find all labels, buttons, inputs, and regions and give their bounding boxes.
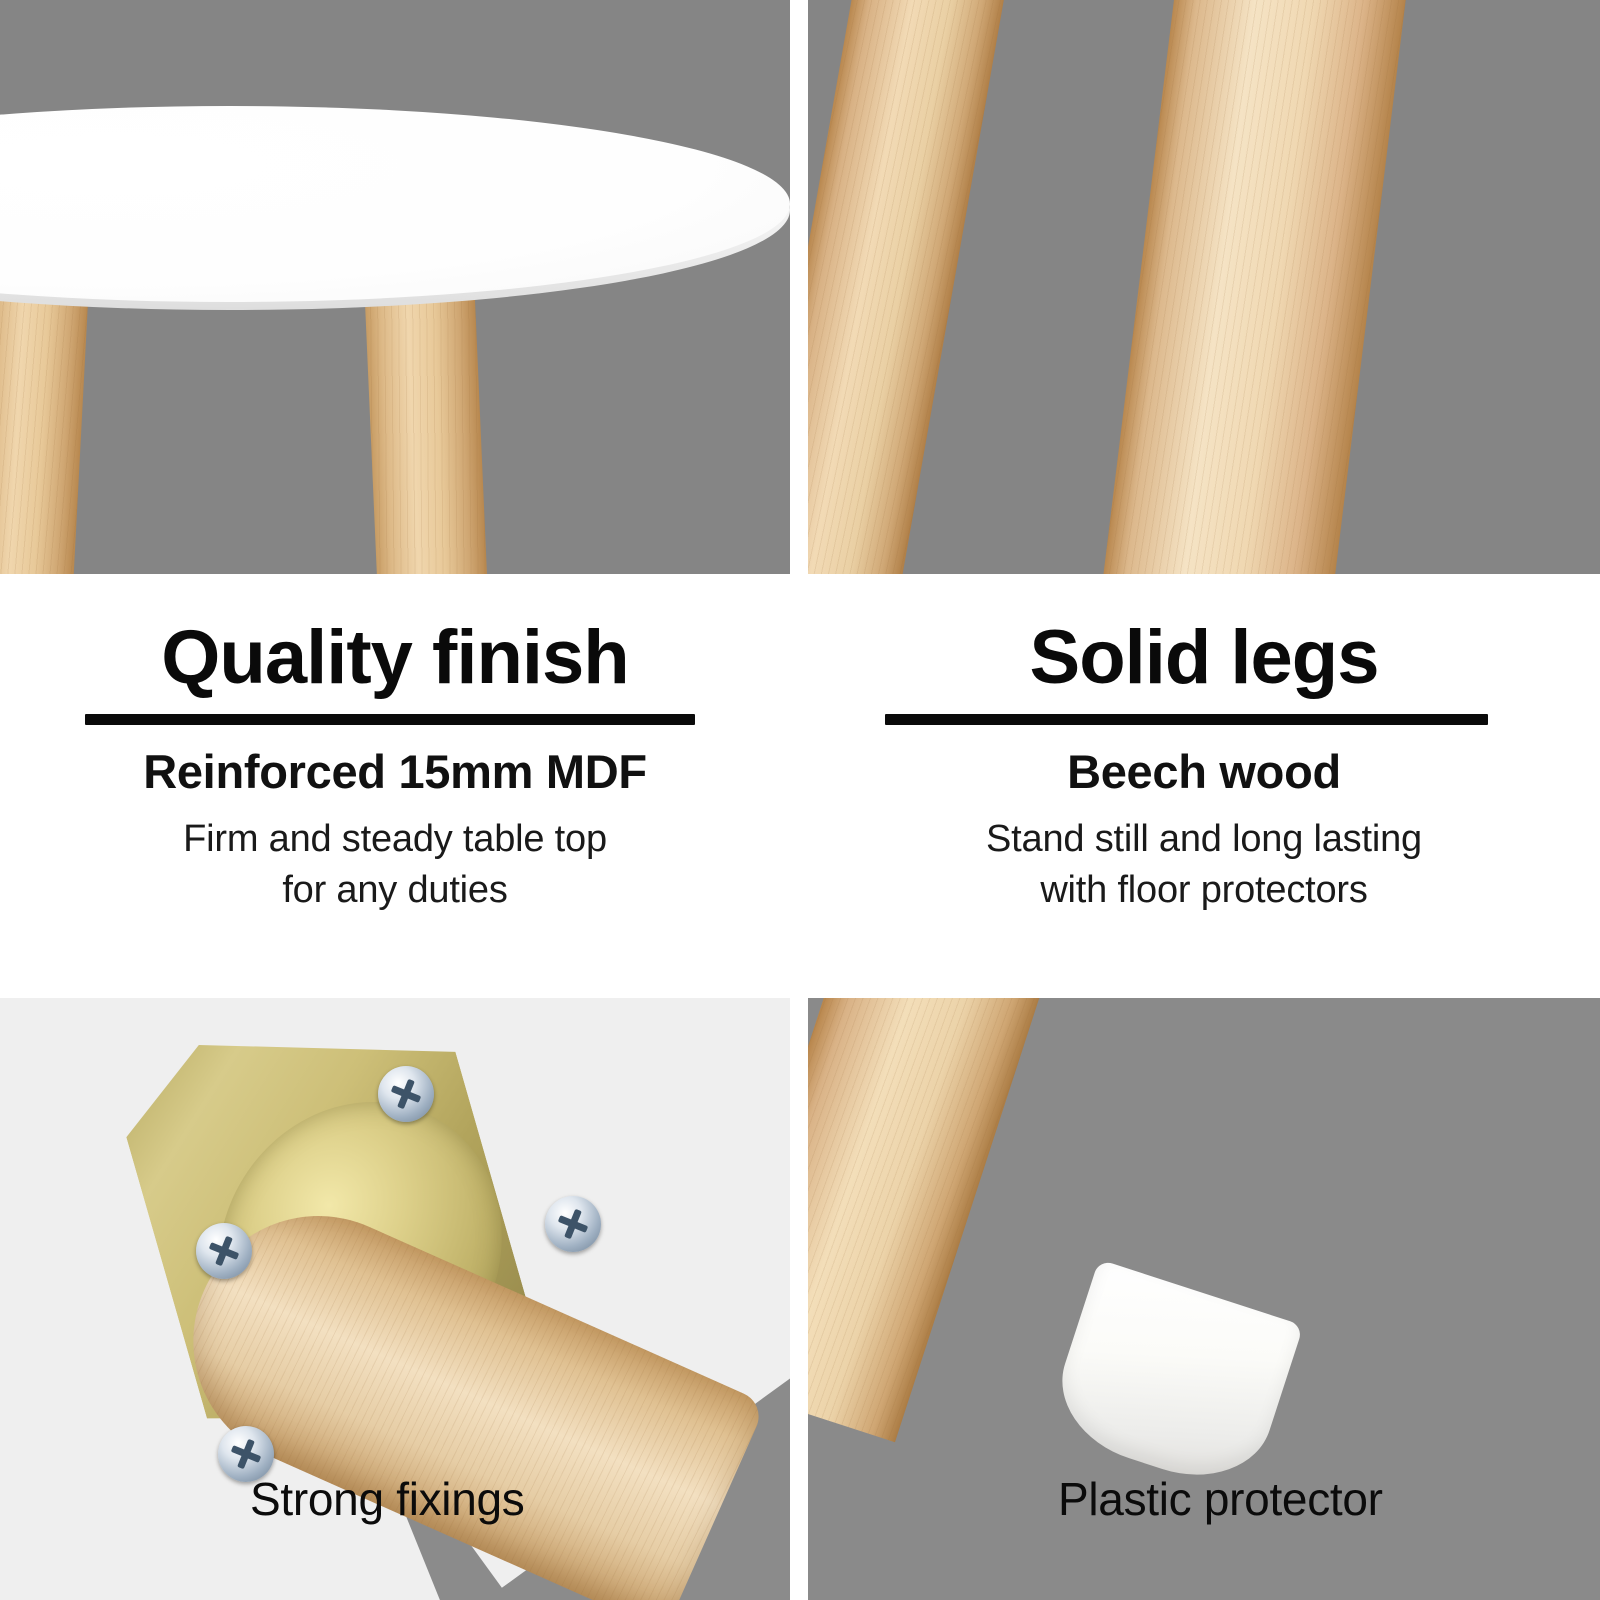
feature-headline: Solid legs bbox=[808, 620, 1600, 696]
feature-body-line-1: Firm and steady table top bbox=[0, 814, 790, 865]
phillips-screw-icon bbox=[378, 1066, 434, 1122]
photo-solid-legs bbox=[808, 0, 1600, 574]
wood-grain-texture bbox=[808, 0, 1008, 574]
beech-leg-a bbox=[808, 0, 1008, 574]
caption-strong-fixings: Strong fixings bbox=[250, 1472, 525, 1526]
beech-leg-end bbox=[808, 998, 1068, 1442]
feature-divider-rule bbox=[85, 714, 695, 725]
feature-body-line-2: for any duties bbox=[0, 865, 790, 916]
feature-text-solid-legs: Solid legs Beech wood Stand still and lo… bbox=[808, 574, 1600, 998]
infographic-board: Quality finish Reinforced 15mm MDF Firm … bbox=[0, 0, 1600, 1600]
feature-text-quality-finish: Quality finish Reinforced 15mm MDF Firm … bbox=[0, 574, 790, 998]
feature-subhead: Beech wood bbox=[808, 746, 1600, 798]
feature-body-line-2: with floor protectors bbox=[808, 865, 1600, 916]
column-gutter bbox=[790, 0, 808, 1600]
wood-grain-texture bbox=[1095, 0, 1411, 574]
phillips-screw-icon bbox=[545, 1196, 601, 1252]
feature-subhead: Reinforced 15mm MDF bbox=[0, 746, 790, 798]
photo-quality-finish bbox=[0, 0, 790, 574]
phillips-screw-icon bbox=[196, 1223, 252, 1279]
caption-plastic-protector: Plastic protector bbox=[1058, 1472, 1383, 1526]
wood-grain-texture bbox=[808, 998, 1068, 1442]
feature-body: Stand still and long lasting with floor … bbox=[808, 814, 1600, 917]
feature-headline: Quality finish bbox=[0, 620, 790, 696]
feature-divider-rule bbox=[885, 714, 1488, 725]
beech-leg-b bbox=[1095, 0, 1411, 574]
plastic-protector-cap bbox=[1043, 1259, 1303, 1497]
feature-body: Firm and steady table top for any duties bbox=[0, 814, 790, 917]
table-top-surface bbox=[0, 106, 790, 302]
feature-body-line-1: Stand still and long lasting bbox=[808, 814, 1600, 865]
